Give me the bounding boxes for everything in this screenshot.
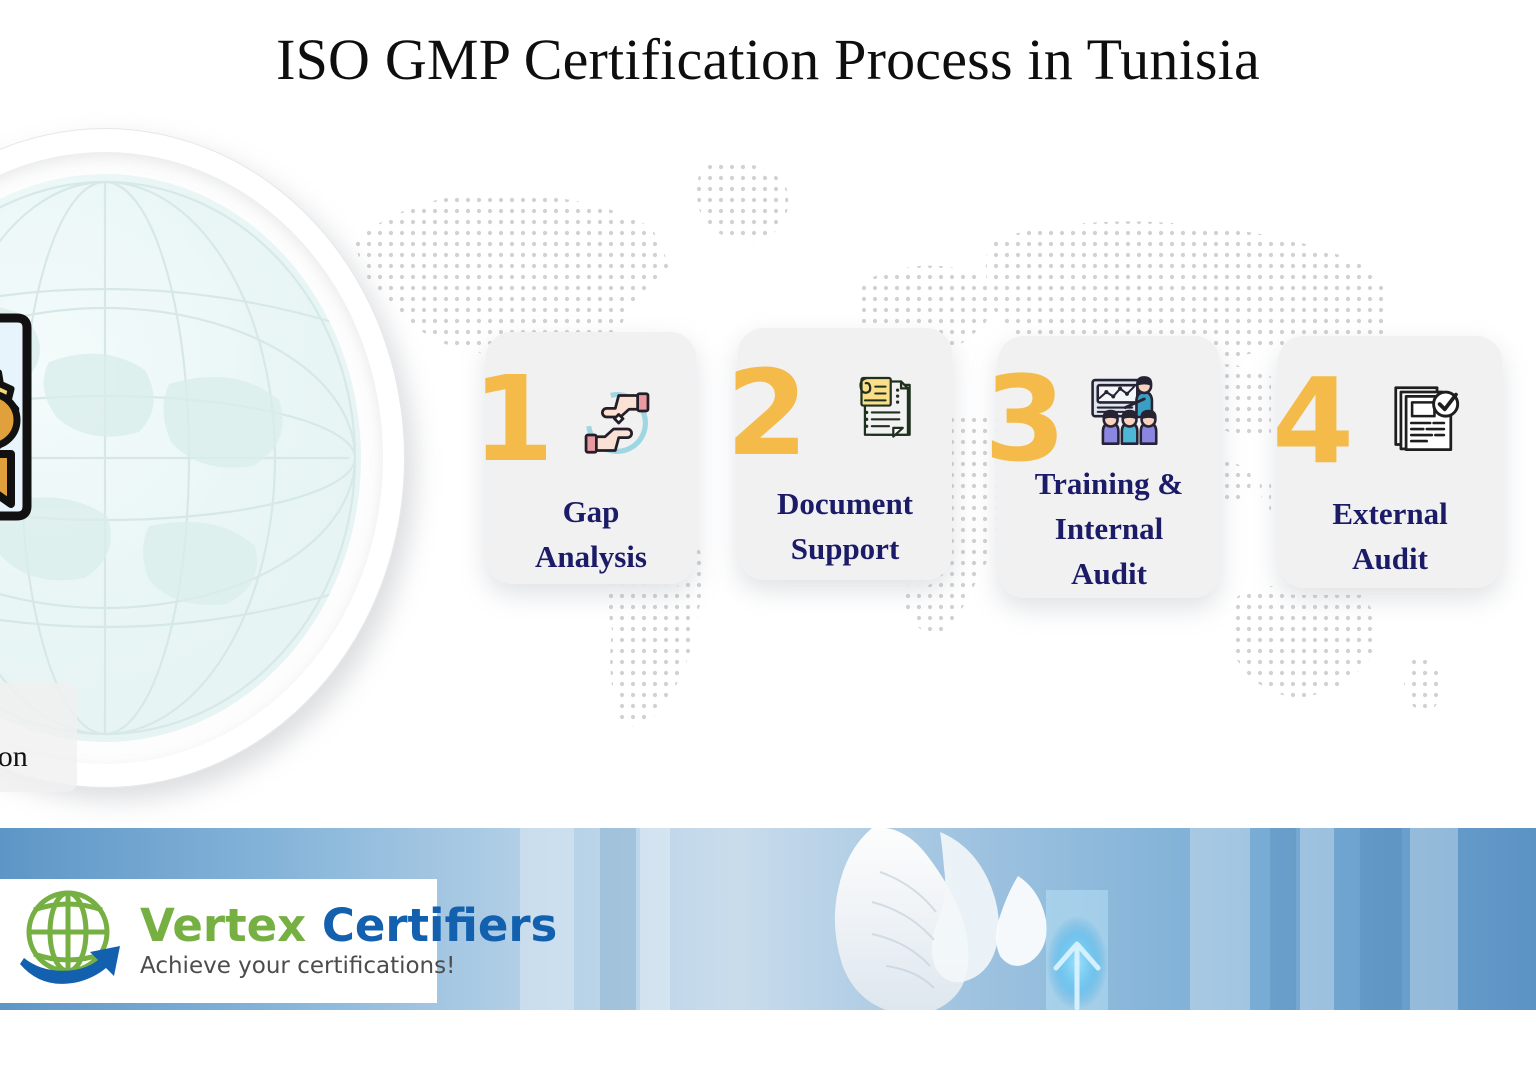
handshake-teamwork-icon	[574, 380, 660, 466]
step-label-3-line-2: Internal	[998, 507, 1220, 552]
step-label-4-line-2: Audit	[1278, 537, 1502, 582]
brand-tagline: Achieve your certifications!	[140, 953, 557, 979]
step-number-1: 1	[472, 360, 554, 478]
iso-certification-label: ISO Certification	[0, 683, 77, 792]
iso-certification-badge: ISO Certification	[0, 128, 405, 788]
step-label-1-line-1: Gap	[486, 490, 696, 535]
step-label-2-line-1: Document	[738, 482, 952, 527]
brand-name-first: Vertex	[140, 899, 306, 952]
step-label-1-line-2: Analysis	[486, 535, 696, 580]
documents-checkmark-icon	[1382, 374, 1468, 460]
step-label-3-line-1: Training &	[998, 462, 1220, 507]
step-label-1: Gap Analysis	[486, 490, 696, 580]
document-papers-icon	[846, 366, 932, 452]
step-number-3: 3	[984, 360, 1066, 478]
step-number-2: 2	[726, 354, 808, 472]
page-title: ISO GMP Certification Process in Tunisia	[0, 26, 1536, 93]
step-card-training-internal-audit[interactable]: 3	[998, 336, 1220, 598]
training-presentation-icon	[1084, 368, 1170, 454]
infographic-canvas: ISO GMP Certification Process in Tunisia	[0, 0, 1536, 1086]
vertex-certifiers-logo: Vertex Certifiers Achieve your certifica…	[0, 879, 437, 1003]
step-card-external-audit[interactable]: 4 Exte	[1278, 336, 1502, 588]
globe-arrow-logo-icon	[14, 886, 136, 996]
step-label-2-line-2: Support	[738, 527, 952, 572]
iso-label-line-2: Certification	[0, 736, 71, 779]
step-number-4: 4	[1272, 362, 1354, 480]
step-label-3-line-3: Audit	[998, 552, 1220, 597]
bottom-white-strip	[0, 1010, 1536, 1086]
step-label-3: Training & Internal Audit	[998, 462, 1220, 597]
step-label-2: Document Support	[738, 482, 952, 572]
logo-wordmark: Vertex Certifiers Achieve your certifica…	[140, 903, 557, 980]
brand-name: Vertex Certifiers	[140, 903, 557, 950]
iso-label-line-1: ISO	[0, 693, 71, 736]
step-card-document-support[interactable]: 2 Document	[738, 328, 952, 580]
step-label-4: External Audit	[1278, 492, 1502, 582]
brand-name-second: Certifiers	[322, 899, 558, 952]
step-label-4-line-1: External	[1278, 492, 1502, 537]
step-card-gap-analysis[interactable]: 1 Gap Analysis	[486, 332, 696, 584]
certificate-with-seal-icon	[0, 308, 55, 533]
